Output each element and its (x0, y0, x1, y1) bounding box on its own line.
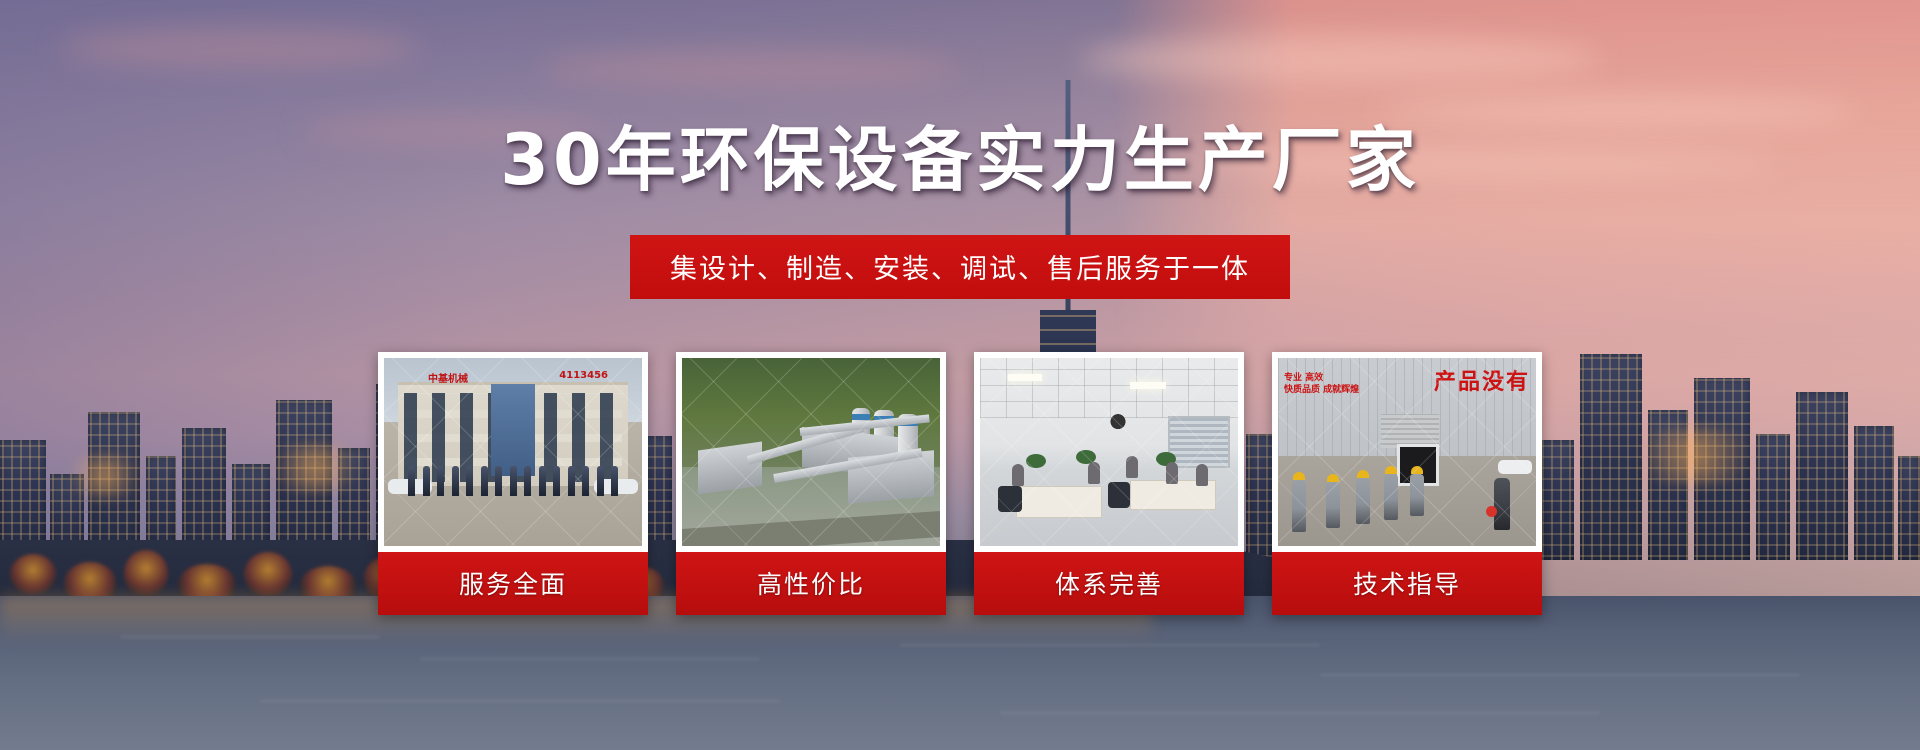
page-title: 30年环保设备实力生产厂家 (0, 104, 1920, 205)
card-image-office (980, 358, 1238, 546)
factory-slogan-text: 专业 高效快质品质 成就辉煌 (1284, 372, 1359, 396)
building-phone-text: 4113456 (559, 370, 608, 381)
cloud (1080, 36, 1600, 82)
card-label: 技术指导 (1272, 552, 1542, 615)
cloud (540, 52, 960, 86)
subtitle-banner-wrap: 集设计、制造、安装、调试、售后服务于一体 (0, 235, 1920, 299)
hero-banner: 30年环保设备实力生产厂家 集设计、制造、安装、调试、售后服务于一体 中基机械 … (0, 0, 1920, 750)
building-sign-text: 中基机械 (428, 370, 468, 385)
subtitle-banner: 集设计、制造、安装、调试、售后服务于一体 (630, 235, 1290, 299)
card-image-training: 产品没有 专业 高效快质品质 成就辉煌 (1278, 358, 1536, 546)
feature-card-list: 中基机械 4113456 服务全面 (378, 352, 1542, 615)
card-label: 服务全面 (378, 552, 648, 615)
cloud (60, 28, 420, 68)
feature-card[interactable]: 中基机械 4113456 服务全面 (378, 352, 648, 615)
card-image-service: 中基机械 4113456 (384, 358, 642, 546)
factory-sign-text: 产品没有 (1434, 364, 1530, 396)
card-label: 高性价比 (676, 552, 946, 615)
feature-card[interactable]: 产品没有 专业 高效快质品质 成就辉煌 技术指导 (1272, 352, 1542, 615)
card-image-plant (682, 358, 940, 546)
feature-card[interactable]: 高性价比 (676, 352, 946, 615)
river-water (0, 596, 1920, 750)
card-label: 体系完善 (974, 552, 1244, 615)
feature-card[interactable]: 体系完善 (974, 352, 1244, 615)
